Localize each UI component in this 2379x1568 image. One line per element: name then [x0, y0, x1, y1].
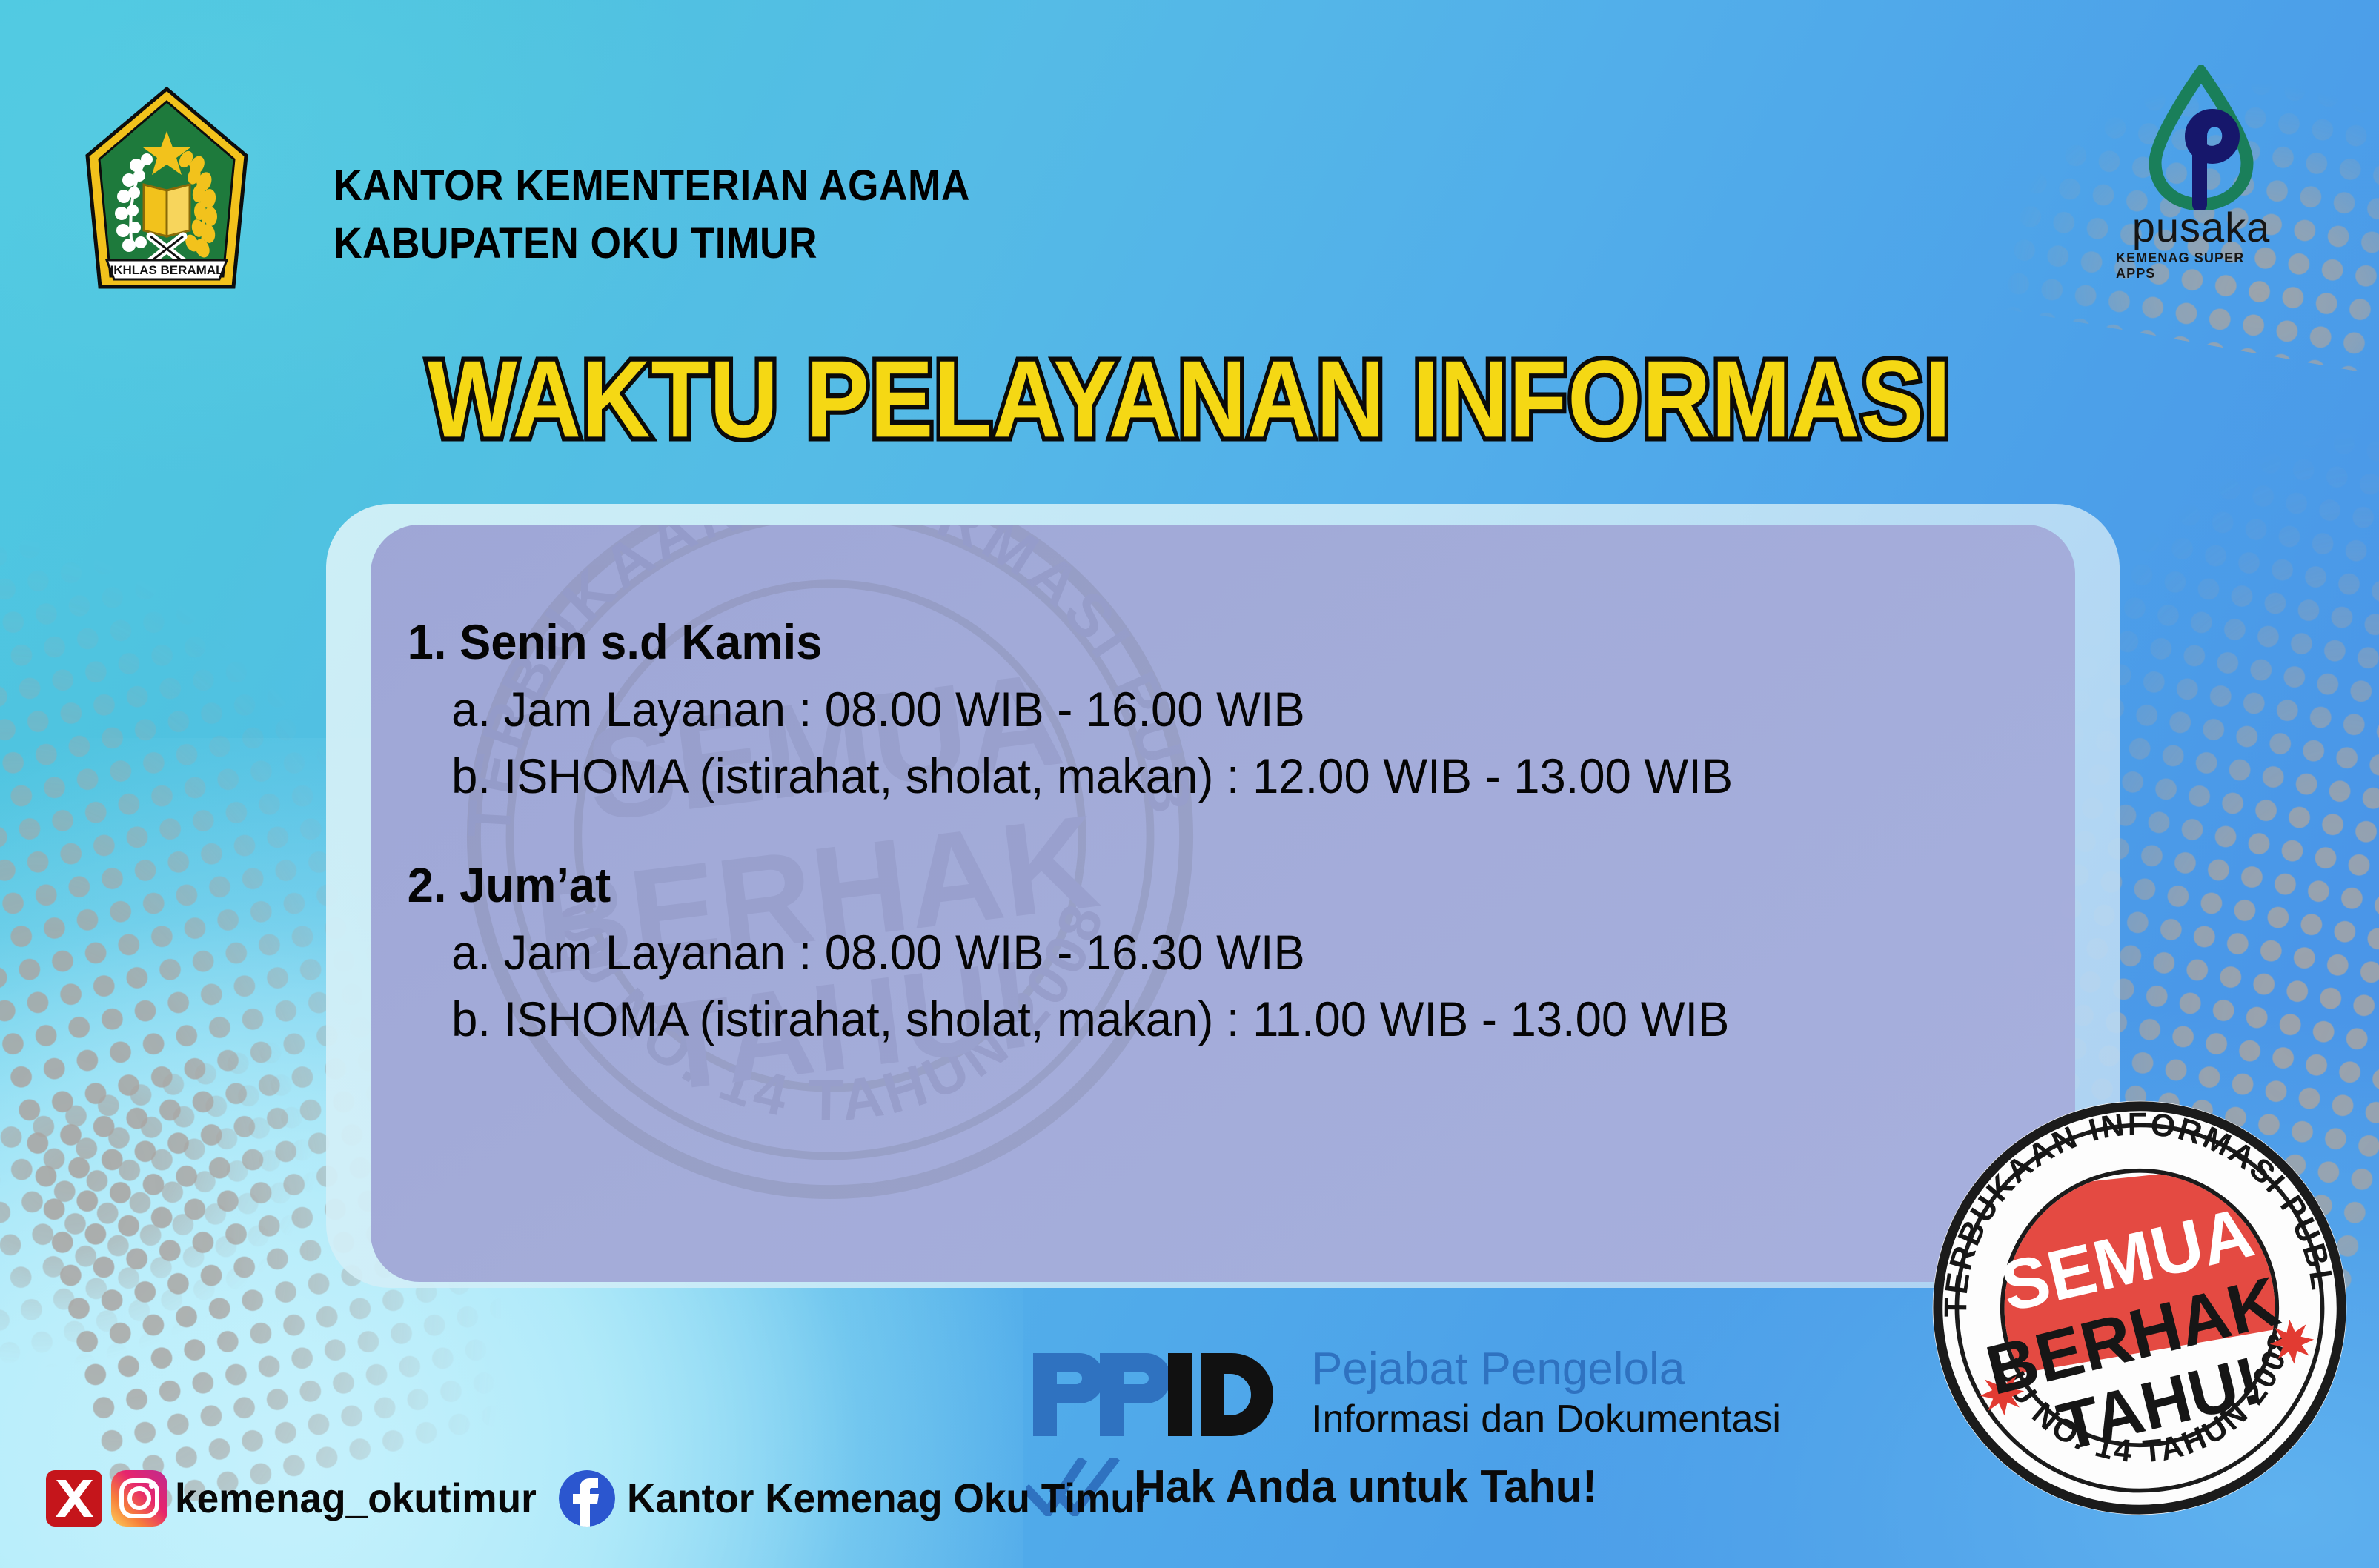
ppid-slogan: Hak Anda untuk Tahu! — [1134, 1461, 1597, 1513]
schedule-group: 1. Senin s.d Kamis a. Jam Layanan : 08.0… — [400, 608, 2068, 809]
poster-header: IKHLAS BERAMAL KANTOR KEMENTERIAN AGAMA … — [0, 0, 2379, 326]
schedule-detail: b. ISHOMA (istirahat, sholat, makan) : 1… — [400, 986, 2001, 1052]
ppid-logo-icon — [1023, 1347, 1295, 1442]
schedule-detail: a. Jam Layanan : 08.00 WIB - 16.00 WIB — [400, 676, 2001, 743]
instagram-icon[interactable] — [111, 1470, 167, 1527]
logo-motto-text: IKHLAS BERAMAL — [110, 263, 224, 277]
instagram-handle[interactable]: kemenag_okutimur — [175, 1475, 537, 1521]
ppid-line-2: Informasi dan Dokumentasi — [1312, 1396, 1781, 1442]
social-media-bar: kemenag_okutimur Kantor Kemenag Oku Timu… — [46, 1463, 1177, 1534]
schedule-day-heading: 1. Senin s.d Kamis — [400, 608, 2001, 676]
ppid-logo-row: Pejabat Pengelola Informasi dan Dokument… — [1023, 1347, 1781, 1442]
service-hours-list: 1. Senin s.d Kamis a. Jam Layanan : 08.0… — [400, 608, 2068, 1052]
schedule-day-heading: 2. Jum’at — [400, 851, 2001, 919]
public-information-stamp: KETERBUKAAN INFORMASI PUBLIK UU NO. 14 T… — [1908, 1076, 2372, 1540]
org-line-2: KABUPATEN OKU TIMUR — [334, 215, 970, 273]
pusaka-wordmark: pusaka — [2132, 207, 2271, 248]
poster-canvas: IKHLAS BERAMAL KANTOR KEMENTERIAN AGAMA … — [0, 0, 2379, 1568]
pusaka-tagline: KEMENAG SUPER APPS — [2116, 250, 2286, 282]
schedule-detail: a. Jam Layanan : 08.00 WIB - 16.30 WIB — [400, 919, 2001, 986]
x-twitter-icon[interactable] — [46, 1470, 102, 1527]
schedule-detail: b. ISHOMA (istirahat, sholat, makan) : 1… — [400, 743, 2001, 809]
ppid-line-1: Pejabat Pengelola — [1312, 1343, 1781, 1396]
page-title: WAKTU PELAYANAN INFORMASI — [36, 337, 2343, 462]
schedule-group: 2. Jum’at a. Jam Layanan : 08.00 WIB - 1… — [400, 851, 2068, 1052]
facebook-page-name[interactable]: Kantor Kemenag Oku Timur — [627, 1475, 1150, 1521]
ppid-expansion: Pejabat Pengelola Informasi dan Dokument… — [1312, 1343, 1781, 1442]
facebook-icon[interactable] — [559, 1470, 615, 1527]
pusaka-droplet-icon — [2142, 65, 2260, 210]
kemenag-logo-icon: IKHLAS BERAMAL — [82, 85, 252, 296]
pusaka-logo: pusaka KEMENAG SUPER APPS — [2116, 65, 2286, 288]
org-line-1: KANTOR KEMENTERIAN AGAMA — [334, 157, 970, 215]
header-title-block: KANTOR KEMENTERIAN AGAMA KABUPATEN OKU T… — [334, 157, 1026, 273]
